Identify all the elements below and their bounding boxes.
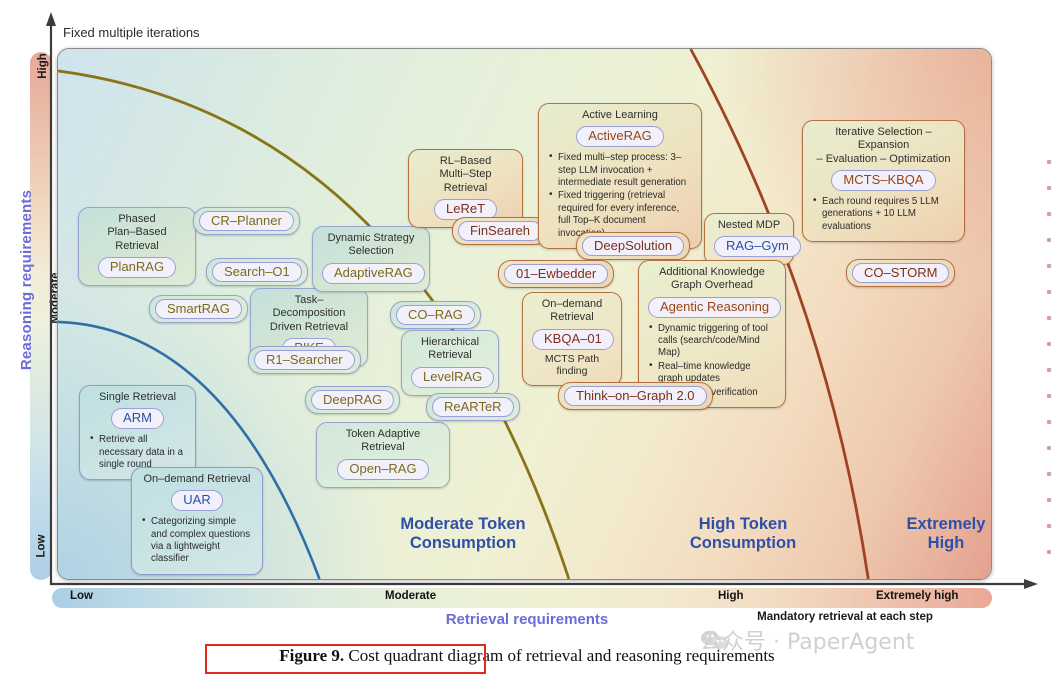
x-tick-low: Low	[70, 590, 93, 602]
node-activerag[interactable]: Active Learning ActiveRAG Fixed multi–st…	[538, 103, 702, 249]
node-activerag-pill: ActiveRAG	[576, 126, 664, 147]
node-levelrag[interactable]: Hierarchical Retrieval LevelRAG	[401, 330, 499, 396]
node-adaptiverag-title: Dynamic Strategy Selection	[322, 232, 420, 259]
figure-caption-text: Cost quadrant diagram of retrieval and r…	[344, 646, 775, 665]
node-pike-title: Task–Decomposition Driven Retrieval	[260, 294, 358, 334]
x-tick-high: High	[718, 590, 744, 602]
node-cr-planner[interactable]: CR–Planner	[193, 207, 300, 235]
node-leret-title: RL–Based Multi–Step Retrieval	[418, 155, 513, 195]
figure-caption-label: Figure 9.	[279, 646, 344, 665]
node-mcts-kbqa-pill: MCTS–KBQA	[831, 170, 935, 191]
node-mcts-kbqa[interactable]: Iterative Selection – Expansion – Evalua…	[802, 120, 965, 242]
quadrant-canvas: Moderate Token Consumption High Token Co…	[57, 48, 992, 580]
x-axis-note: Mandatory retrieval at each step	[700, 611, 990, 623]
node-activerag-bullet-1: Fixed multi–step process: 3–step LLM inv…	[548, 152, 692, 189]
node-01-ewbedder-pill: 01–Ewbedder	[504, 264, 608, 284]
node-finsearch[interactable]: FinSeareh	[452, 217, 548, 245]
node-kbqa-01-subline: MCTS Path finding	[532, 353, 612, 379]
node-r1-searcher-pill: R1–Searcher	[254, 350, 355, 370]
x-tick-moderate: Moderate	[385, 590, 436, 602]
node-rag-gym-title: Nested MDP	[714, 219, 784, 232]
node-uar[interactable]: On–demand Retrieval UAR Categorizing sim…	[131, 467, 263, 575]
node-arm-bullets: Retrieve all necessary data in a single …	[89, 434, 186, 471]
x-axis-gradient-bar	[52, 588, 992, 608]
node-planrag-pill: PlanRAG	[98, 257, 176, 278]
node-co-storm[interactable]: CO–STORM	[846, 259, 955, 287]
node-open-rag-pill: Open–RAG	[337, 459, 428, 480]
x-tick-extremely-high: Extremely high	[876, 590, 958, 602]
node-arm-pill: ARM	[111, 408, 164, 429]
page-edge-marks	[1047, 160, 1051, 576]
node-r1-searcher[interactable]: R1–Searcher	[248, 346, 361, 374]
node-agentic-reasoning-title: Additional Knowledge Graph Overhead	[648, 266, 776, 293]
figure-root: Fixed multiple iterations High Moderate …	[0, 0, 1054, 684]
node-rag-gym[interactable]: Nested MDP RAG–Gym	[704, 213, 794, 265]
y-tick-low: Low	[30, 540, 52, 552]
y-tick-low-label: Low	[36, 535, 48, 558]
node-finsearch-pill: FinSeareh	[458, 221, 542, 241]
node-open-rag[interactable]: Token Adaptive Retrieval Open–RAG	[316, 422, 450, 488]
node-think-on-graph-pill: Think–on–Graph 2.0	[564, 386, 707, 406]
node-smartrag-pill: SmartRAG	[155, 299, 242, 319]
node-planrag-title: Phased Plan–Based Retrieval	[88, 213, 186, 253]
node-think-on-graph[interactable]: Think–on–Graph 2.0	[558, 382, 713, 410]
node-levelrag-title: Hierarchical Retrieval	[411, 336, 489, 363]
node-rearter-pill: ReARTeR	[432, 397, 514, 417]
quadrant-label-high: High Token Consumption	[663, 515, 823, 554]
node-co-storm-pill: CO–STORM	[852, 263, 949, 283]
node-search-o1-pill: Search–O1	[212, 262, 302, 282]
y-tick-high-label: High	[37, 53, 49, 79]
node-deeprag[interactable]: DeepRAG	[305, 386, 400, 414]
node-uar-title: On–demand Retrieval	[141, 473, 253, 486]
node-deepsolution[interactable]: DeepSolution	[576, 232, 690, 260]
node-levelrag-pill: LevelRAG	[411, 367, 494, 388]
node-uar-bullet-1: Categorizing simple and complex question…	[141, 516, 253, 566]
node-adaptiverag[interactable]: Dynamic Strategy Selection AdaptiveRAG	[312, 226, 430, 292]
node-kbqa-01-title: On–demand Retrieval	[532, 298, 612, 325]
y-tick-high: High	[30, 60, 52, 72]
node-agentic-bullet-1: Dynamic triggering of tool calls (search…	[648, 323, 776, 360]
node-smartrag[interactable]: SmartRAG	[149, 295, 248, 323]
node-deeprag-pill: DeepRAG	[311, 390, 394, 410]
node-01-ewbedder[interactable]: 01–Ewbedder	[498, 260, 614, 288]
node-deepsolution-pill: DeepSolution	[582, 236, 684, 256]
node-co-rag-pill: CO–RAG	[396, 305, 475, 325]
node-mcts-kbqa-bullet-1: Each round requires 5 LLM generations + …	[812, 196, 955, 233]
node-rag-gym-pill: RAG–Gym	[714, 236, 801, 257]
y-axis-title: Reasoning requirements	[18, 130, 35, 430]
figure-caption: Figure 9. Cost quadrant diagram of retri…	[0, 646, 1054, 666]
node-uar-pill: UAR	[171, 490, 222, 511]
node-rearter[interactable]: ReARTeR	[426, 393, 520, 421]
node-kbqa-01[interactable]: On–demand Retrieval KBQA–01 MCTS Path fi…	[522, 292, 622, 386]
node-mcts-kbqa-title: Iterative Selection – Expansion – Evalua…	[812, 126, 955, 166]
node-cr-planner-pill: CR–Planner	[199, 211, 294, 231]
node-planrag[interactable]: Phased Plan–Based Retrieval PlanRAG	[78, 207, 196, 286]
top-note: Fixed multiple iterations	[63, 25, 200, 40]
node-open-rag-title: Token Adaptive Retrieval	[326, 428, 440, 455]
node-activerag-bullets: Fixed multi–step process: 3–step LLM inv…	[548, 152, 692, 240]
node-activerag-title: Active Learning	[548, 109, 692, 122]
node-arm-title: Single Retrieval	[89, 391, 186, 404]
node-arm-bullet-1: Retrieve all necessary data in a single …	[89, 434, 186, 471]
node-mcts-kbqa-bullets: Each round requires 5 LLM generations + …	[812, 196, 955, 233]
node-search-o1[interactable]: Search–O1	[206, 258, 308, 286]
node-uar-bullets: Categorizing simple and complex question…	[141, 516, 253, 566]
node-adaptiverag-pill: AdaptiveRAG	[322, 263, 425, 284]
node-co-rag[interactable]: CO–RAG	[390, 301, 481, 329]
quadrant-label-extreme: Extremely High	[881, 515, 992, 554]
node-kbqa-01-pill: KBQA–01	[532, 329, 614, 350]
quadrant-label-moderate: Moderate Token Consumption	[368, 515, 558, 554]
node-agentic-reasoning-pill: Agentic Reasoning	[648, 297, 781, 318]
